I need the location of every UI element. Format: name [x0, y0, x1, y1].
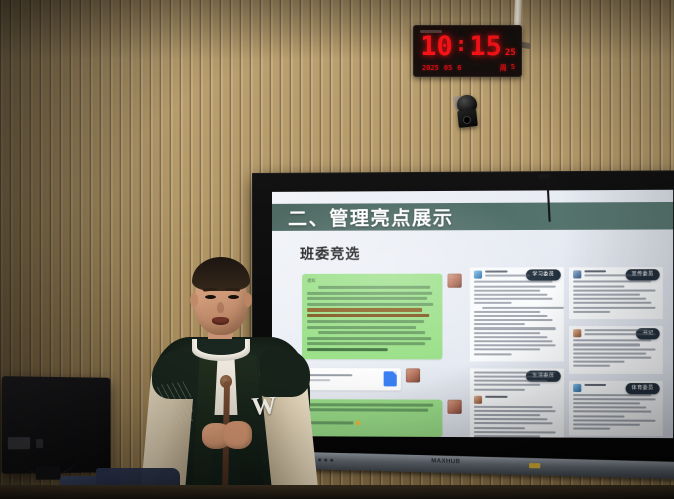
- presenter-mouth: [212, 317, 229, 325]
- clock-weekday: 5: [511, 63, 515, 73]
- panel-brand-logo: MAXHUB: [431, 458, 460, 465]
- slide-title-bar: 二、管理亮点展示: [272, 202, 673, 231]
- presenter-nose: [217, 302, 224, 313]
- chat-file-card[interactable]: [302, 368, 401, 390]
- avatar: [447, 274, 461, 288]
- avatar: [474, 271, 482, 279]
- status-badge: 学习委员: [526, 269, 560, 280]
- clock-weekday-group: 周 5: [500, 63, 515, 73]
- role-cards-column-left: 学习委员: [470, 267, 564, 431]
- avatar: [474, 395, 482, 403]
- presenter-hair: [192, 257, 250, 291]
- presenter-left-ear: [190, 293, 198, 307]
- role-card: 体育委员: [568, 380, 662, 436]
- status-badge: 体育委员: [625, 383, 659, 394]
- chat-message-row: 通知: [302, 274, 462, 359]
- camera-lens-icon: [463, 116, 471, 124]
- ir-receiver-icon: [529, 463, 540, 468]
- role-card: 书记: [568, 326, 662, 374]
- role-cards-grid: 学习委员: [470, 267, 663, 432]
- chat-bubble-green: 通知: [302, 274, 442, 359]
- clock-minutes: 15: [469, 33, 502, 60]
- jacket-letter-patch: W: [249, 392, 279, 422]
- avatar: [447, 399, 461, 413]
- chat-message-row: [302, 399, 462, 437]
- clock-hours: 10: [420, 33, 453, 60]
- floor-shadow-strip: [0, 485, 674, 499]
- jacket-embroidery: [155, 381, 195, 427]
- emoji-icon: [356, 420, 361, 425]
- file-card-text: [306, 374, 384, 384]
- jacket-collar-inner: [197, 339, 245, 355]
- page-title: 二、管理亮点展示: [272, 203, 454, 231]
- role-card: 宣传委员: [568, 267, 662, 319]
- chat-message-row: [302, 368, 462, 391]
- clock-date-row: 2025 05 6 周 5: [414, 62, 521, 74]
- clock-year: 2025: [422, 64, 439, 72]
- card-text-lines: [485, 395, 559, 399]
- avatar: [406, 368, 420, 382]
- chat-bubble-label: 通知: [307, 278, 437, 284]
- card-header: [474, 395, 559, 403]
- presenter-right-hand: [222, 421, 252, 449]
- desktop-monitor-rear: [2, 376, 111, 474]
- clock-colon: :: [455, 34, 468, 55]
- panel-screen[interactable]: 二、管理亮点展示 班委竞选 通知: [272, 190, 673, 438]
- document-file-icon: [384, 371, 397, 386]
- led-wall-clock: 10 : 15 25 2025 05 6 周 5: [413, 25, 522, 77]
- classroom-scene: 10 : 15 25 2025 05 6 周 5 二、管理亮点展示: [0, 0, 674, 499]
- avatar: [573, 270, 581, 278]
- chat-bubble-green: [302, 399, 442, 437]
- role-cards-column-right: 宣传委员: [568, 267, 662, 432]
- chat-screenshot-left: 通知: [302, 274, 462, 439]
- clock-month: 05: [444, 64, 452, 72]
- wall-camera-icon: [452, 95, 486, 135]
- avatar: [573, 383, 581, 391]
- interactive-flat-panel[interactable]: 二、管理亮点展示 班委竞选 通知: [252, 170, 674, 464]
- presenter-right-ear: [244, 293, 252, 307]
- student-presenter: W: [150, 255, 310, 499]
- presenter-right-shoulder: [260, 349, 310, 397]
- presenter-left-eye: [205, 295, 216, 299]
- role-card: 学习委员: [470, 267, 564, 361]
- panel-cable-connector: [538, 174, 550, 179]
- clock-weekday-prefix: 周: [500, 63, 507, 73]
- clock-day: 6: [457, 64, 461, 72]
- clock-time-display: 10 : 15 25: [414, 31, 521, 61]
- presentation-slide: 二、管理亮点展示 班委竞选 通知: [272, 190, 673, 438]
- role-card: 生活委员: [470, 368, 564, 438]
- presenter-right-eye: [228, 295, 239, 299]
- monitor-stand: [36, 466, 60, 479]
- avatar: [573, 329, 581, 337]
- clock-seconds: 25: [505, 49, 516, 58]
